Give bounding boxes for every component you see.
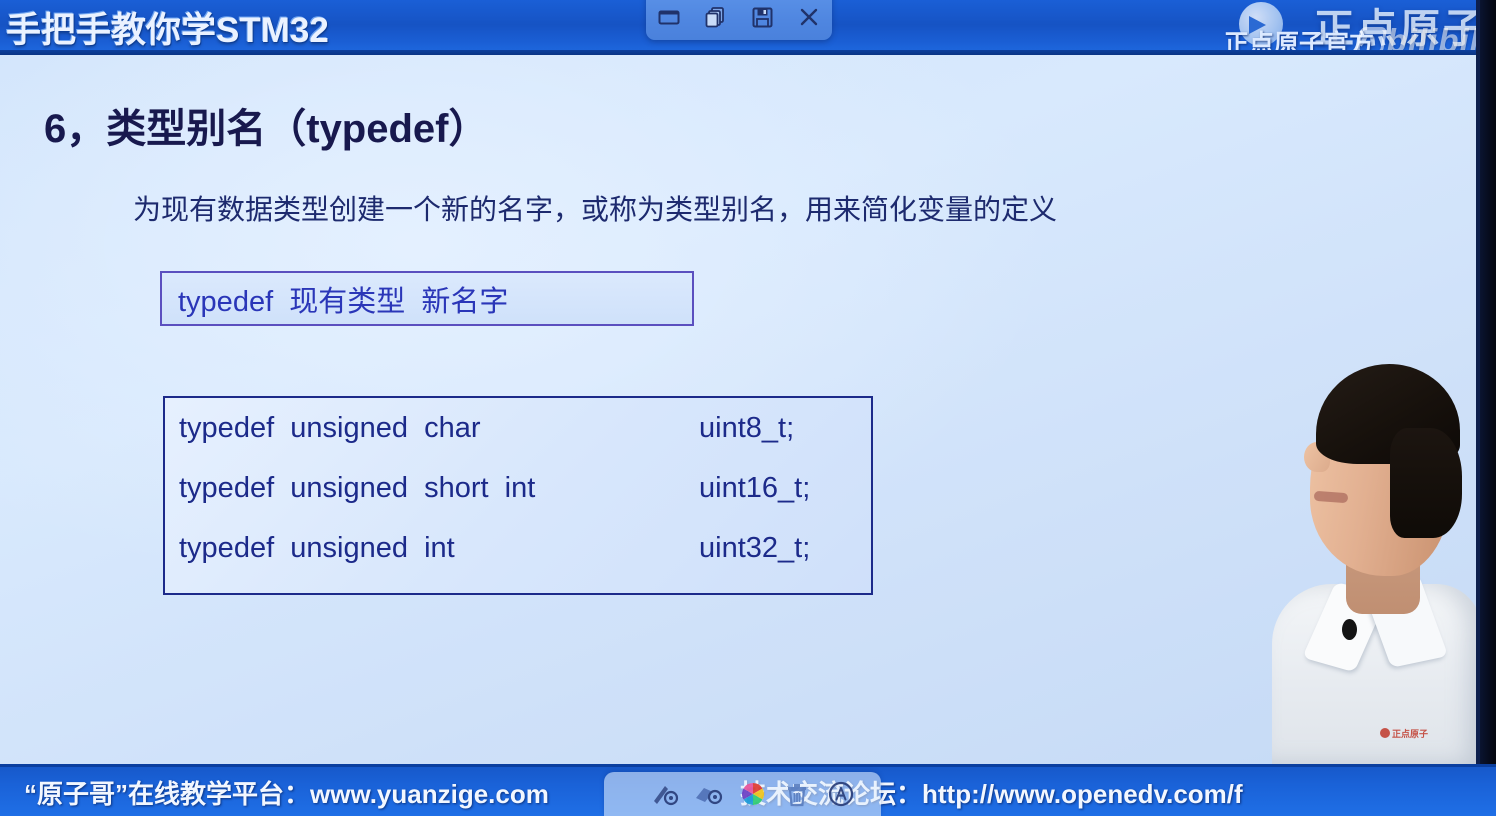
course-title: 手把手教你学STM32	[6, 2, 329, 53]
code-alias: uint16_t;	[699, 472, 810, 505]
footer-platform-text: “原子哥”在线教学平台：www.yuanzige.com	[24, 774, 549, 811]
bilibili-watermark: bilibili	[1358, 22, 1490, 55]
code-row: typedef unsigned short int uint16_t;	[179, 472, 871, 532]
code-declaration: typedef unsigned short int	[179, 472, 699, 505]
lapel-microphone-icon	[1342, 619, 1357, 640]
screen: 手把手教你学STM32 正点原子 正点原子官方 bilibili	[0, 0, 1496, 816]
shirt-logo-mark	[1380, 728, 1390, 738]
code-alias: uint32_t;	[699, 532, 810, 565]
right-edge-strip	[1480, 0, 1496, 816]
text-tool-icon[interactable]	[826, 779, 856, 809]
shirt-brand-logo: 正点原子	[1380, 727, 1428, 740]
close-icon[interactable]	[794, 4, 824, 30]
code-example-box: typedef unsigned char uint8_t; typedef u…	[163, 396, 873, 595]
code-row: typedef unsigned int uint32_t;	[179, 532, 871, 592]
shirt-logo-text: 正点原子	[1392, 729, 1428, 739]
bilibili-watermark-text: bilibili	[1387, 22, 1490, 55]
save-icon[interactable]	[747, 4, 777, 30]
presenter-hair-back	[1390, 428, 1462, 538]
presenter-video: 正点原子	[1264, 332, 1480, 764]
bilibili-tv-icon	[1355, 27, 1387, 54]
code-row: typedef unsigned char uint8_t;	[179, 412, 871, 472]
code-declaration: typedef unsigned int	[179, 532, 699, 565]
code-declaration: typedef unsigned char	[179, 412, 699, 445]
syntax-box: typedef 现有类型 新名字	[160, 271, 694, 326]
pen-settings-icon[interactable]	[650, 779, 680, 809]
syntax-text: typedef 现有类型 新名字	[162, 278, 508, 320]
trash-icon[interactable]	[782, 779, 812, 809]
page-title: 6，类型别名（typedef）	[44, 96, 489, 154]
eraser-settings-icon[interactable]	[694, 779, 724, 809]
screen-capture-toolbar[interactable]	[646, 0, 832, 40]
slide-description: 为现有数据类型创建一个新的名字，或称为类型别名，用来简化变量的定义	[133, 188, 1057, 228]
copy-icon[interactable]	[701, 4, 731, 30]
official-channel-label: 正点原子官方	[1224, 24, 1374, 55]
code-alias: uint8_t;	[699, 412, 794, 445]
annotation-toolbar[interactable]	[604, 772, 881, 816]
window-icon[interactable]	[654, 4, 684, 30]
color-wheel-icon[interactable]	[738, 779, 768, 809]
